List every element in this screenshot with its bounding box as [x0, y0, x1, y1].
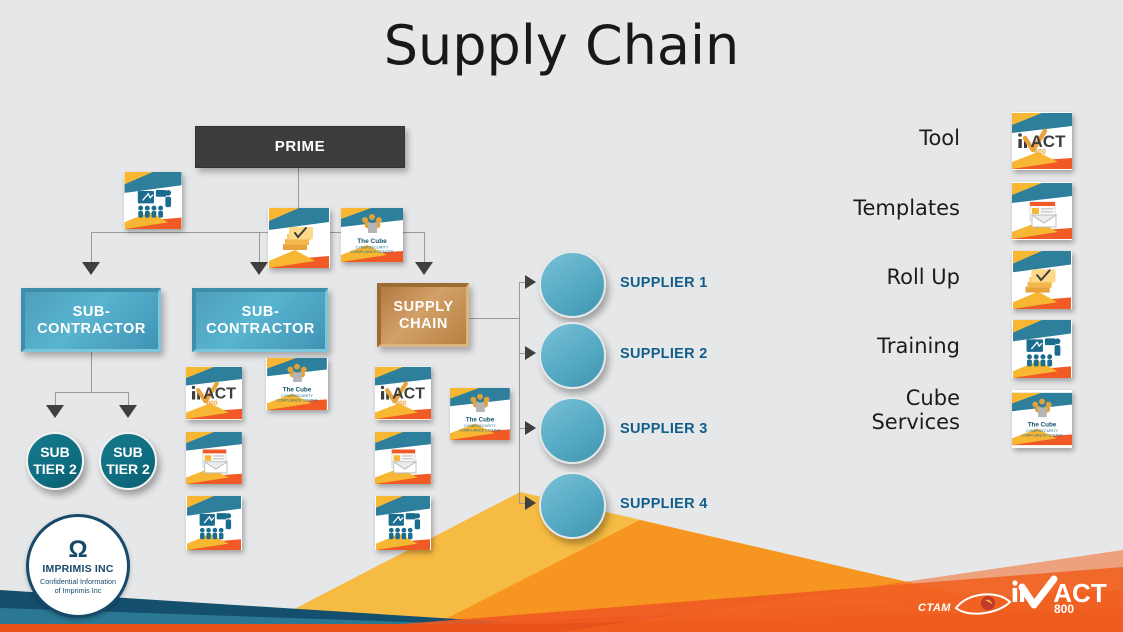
training-icon[interactable] — [124, 172, 182, 229]
cube-services-icon[interactable]: The Cube CYBERSECURITY COMPLIANCE CENTER — [1012, 390, 1072, 448]
node-subcontractor-1-line1: SUB- — [37, 304, 146, 321]
arrow-to-supplier-1 — [525, 275, 536, 289]
sub-tier-2-b-line2: TIER 2 — [106, 461, 150, 478]
legend-label-cube-services-line2: Services — [830, 411, 960, 435]
circle-supplier-3[interactable] — [539, 397, 606, 464]
node-supply-chain[interactable]: SUPPLY CHAIN — [377, 283, 469, 347]
training-icon[interactable] — [1012, 320, 1072, 378]
circle-supplier-1[interactable] — [539, 251, 606, 318]
training-icon[interactable] — [186, 496, 242, 550]
imprimis-logo-badge: Ω IMPRIMIS INC Confidential Information … — [26, 514, 130, 618]
connector-branch-right — [424, 232, 425, 264]
circle-sub-tier-2-b[interactable]: SUB TIER 2 — [99, 432, 157, 490]
ctam-eye-icon — [952, 588, 1014, 620]
node-subcontractor-2-line2: CONTRACTOR — [206, 321, 315, 338]
legend-label-training: Training — [830, 335, 960, 359]
label-supplier-1: SUPPLIER 1 — [620, 275, 708, 291]
node-supply-chain-line2: CHAIN — [393, 316, 453, 333]
imprimis-name: IMPRIMIS INC — [42, 563, 113, 575]
arrow-to-sub-tier-2-a — [46, 405, 64, 418]
node-supply-chain-line1: SUPPLY — [393, 299, 453, 316]
inact-footer-logo: ACT 800 — [1006, 575, 1114, 620]
connector-branch-mid — [259, 232, 260, 264]
node-subcontractor-1[interactable]: SUB- CONTRACTOR — [21, 288, 161, 352]
label-supplier-4: SUPPLIER 4 — [620, 496, 708, 512]
arrow-to-supplier-4 — [525, 496, 536, 510]
node-subcontractor-1-line2: CONTRACTOR — [37, 321, 146, 338]
node-prime-label: PRIME — [275, 138, 326, 155]
svg-text:The Cube: The Cube — [1028, 422, 1057, 429]
arrow-to-subcontractor-1 — [82, 262, 100, 275]
legend-label-tool: Tool — [830, 127, 960, 151]
templates-icon[interactable] — [186, 432, 242, 484]
svg-text:800: 800 — [396, 400, 407, 407]
slide-canvas: Supply Chain PRIME SUB- CONTRACTOR SUB- … — [0, 0, 1123, 632]
node-prime[interactable]: PRIME — [195, 126, 405, 168]
svg-text:COMPLIANCE CENTER: COMPLIANCE CENTER — [351, 249, 394, 254]
rollup-icon[interactable] — [1012, 251, 1072, 309]
circle-supplier-4[interactable] — [539, 472, 606, 539]
connector-supplier-trunk — [519, 282, 520, 504]
templates-icon[interactable] — [1012, 182, 1072, 240]
connector-sub1-down — [91, 352, 92, 392]
svg-text:800: 800 — [207, 400, 218, 407]
sub-tier-2-a-line2: TIER 2 — [33, 461, 77, 478]
templates-icon[interactable] — [375, 432, 431, 484]
legend-label-roll-up: Roll Up — [830, 266, 960, 290]
legend-label-templates: Templates — [830, 197, 960, 221]
training-icon[interactable] — [375, 496, 431, 550]
cube-services-icon[interactable]: The Cube CYBERSECURITY COMPLIANCE CENTER — [341, 208, 403, 262]
inact-tool-icon[interactable]: ACT 800 — [1012, 112, 1072, 170]
connector-branch-left — [91, 232, 92, 264]
cube-services-icon[interactable]: The Cube CYBERSECURITY COMPLIANCE CENTER — [266, 358, 328, 410]
label-supplier-3: SUPPLIER 3 — [620, 421, 708, 437]
imprimis-mark-icon: Ω — [68, 538, 87, 562]
sub-tier-2-b-line1: SUB — [106, 444, 150, 461]
legend-label-cube-services-line1: Cube — [830, 387, 960, 411]
rollup-icon[interactable] — [268, 208, 330, 268]
label-supplier-2: SUPPLIER 2 — [620, 346, 708, 362]
circle-sub-tier-2-a[interactable]: SUB TIER 2 — [26, 432, 84, 490]
inact-tool-icon[interactable]: ACT 800 — [375, 366, 431, 420]
arrow-to-supplier-3 — [525, 421, 536, 435]
inact-tool-icon[interactable]: ACT 800 — [186, 366, 242, 420]
svg-text:COMPLIANCE CENTER: COMPLIANCE CENTER — [276, 398, 318, 402]
svg-text:800: 800 — [1034, 149, 1046, 156]
cube-services-icon[interactable]: The Cube CYBERSECURITY COMPLIANCE CENTER — [450, 388, 510, 440]
ctam-label: CTAM — [918, 602, 951, 614]
arrow-to-subcontractor-2 — [250, 262, 268, 275]
node-subcontractor-2-line1: SUB- — [206, 304, 315, 321]
connector-tier2-horizontal — [55, 392, 128, 393]
arrow-to-sub-tier-2-b — [119, 405, 137, 418]
arrow-to-supplier-2 — [525, 346, 536, 360]
arrow-to-supply-chain — [415, 262, 433, 275]
page-title: Supply Chain — [0, 14, 1123, 77]
imprimis-confidential-notice: Confidential Information of Imprimis Inc — [34, 577, 122, 595]
svg-text:COMPLIANCE CENTER: COMPLIANCE CENTER — [1021, 433, 1063, 437]
ctam-logo: CTAM — [918, 602, 951, 614]
svg-text:The Cube: The Cube — [283, 387, 312, 394]
circle-supplier-2[interactable] — [539, 322, 606, 389]
svg-text:800: 800 — [1054, 602, 1074, 615]
connector-supply-out — [468, 318, 520, 319]
confidential-line-1: Confidential Information — [40, 577, 116, 586]
svg-text:The Cube: The Cube — [466, 417, 495, 424]
svg-text:COMPLIANCE CENTER: COMPLIANCE CENTER — [459, 428, 501, 432]
node-subcontractor-2[interactable]: SUB- CONTRACTOR — [192, 288, 328, 352]
confidential-line-2: of Imprimis Inc — [40, 586, 116, 595]
legend-label-cube-services: Cube Services — [830, 387, 960, 434]
sub-tier-2-a-line1: SUB — [33, 444, 77, 461]
